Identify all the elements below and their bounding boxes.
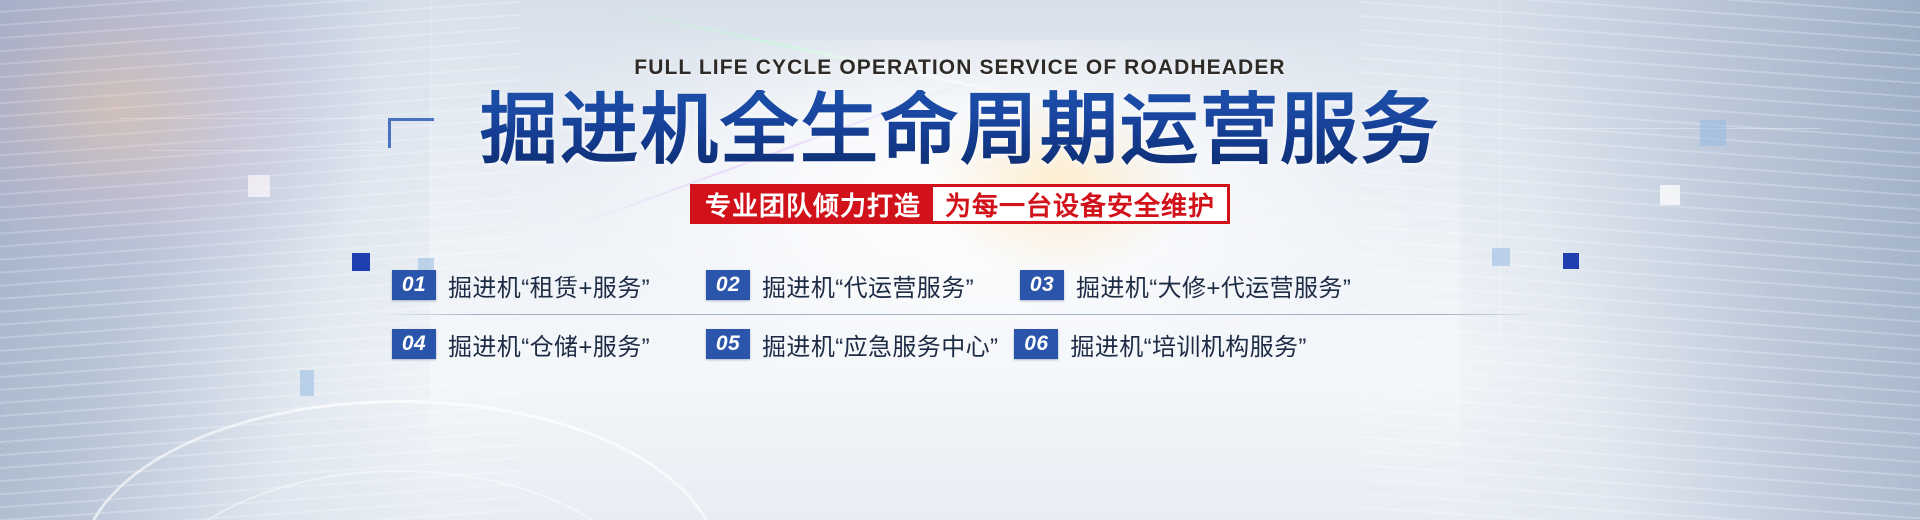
banner-headline: 掘进机全生命周期运营服务 [480, 90, 1440, 168]
service-badge-04: 04 [392, 329, 436, 359]
service-badge-06: 06 [1014, 329, 1058, 359]
service-badge-02: 02 [706, 270, 750, 300]
service-divider [380, 314, 1540, 315]
banner-content: FULL LIFE CYCLE OPERATION SERVICE OF ROA… [0, 0, 1920, 520]
service-label-03: 掘进机 [1076, 268, 1149, 303]
service-item-03[interactable]: 03 掘进机 “大修+代运营服务” [1020, 268, 1351, 303]
service-item-02[interactable]: 02 掘进机 “代运营服务” [706, 268, 974, 303]
service-quote-03: “大修+代运营服务” [1149, 268, 1351, 303]
service-row-2: 04 掘进机 “仓储+服务” 05 掘进机 “应急服务中心” 06 掘进机 “培… [380, 317, 1540, 371]
service-label-02: 掘进机 [762, 268, 835, 303]
service-quote-06: “培训机构服务” [1144, 327, 1307, 362]
tagline-outline-part: 为每一台设备安全维护 [933, 187, 1227, 221]
banner-eyebrow-english: FULL LIFE CYCLE OPERATION SERVICE OF ROA… [634, 56, 1285, 80]
service-label-04: 掘进机 [448, 327, 521, 362]
service-label-01: 掘进机 [448, 268, 521, 303]
service-item-06[interactable]: 06 掘进机 “培训机构服务” [1014, 327, 1306, 362]
banner-tagline: 专业团队倾力打造 为每一台设备安全维护 [690, 184, 1230, 224]
service-row-1: 01 掘进机 “租赁+服务” 02 掘进机 “代运营服务” 03 掘进机 “大修… [380, 258, 1540, 312]
service-quote-01: “租赁+服务” [521, 268, 650, 303]
service-label-06: 掘进机 [1070, 327, 1143, 362]
tagline-solid-part: 专业团队倾力打造 [693, 187, 933, 221]
service-badge-01: 01 [392, 270, 436, 300]
service-quote-05: “应急服务中心” [835, 327, 998, 362]
service-label-05: 掘进机 [762, 327, 835, 362]
promo-banner: FULL LIFE CYCLE OPERATION SERVICE OF ROA… [0, 0, 1920, 520]
service-item-04[interactable]: 04 掘进机 “仓储+服务” [392, 327, 650, 362]
service-quote-02: “代运营服务” [835, 268, 974, 303]
service-badge-03: 03 [1020, 270, 1064, 300]
service-badge-05: 05 [706, 329, 750, 359]
service-list: 01 掘进机 “租赁+服务” 02 掘进机 “代运营服务” 03 掘进机 “大修… [380, 258, 1540, 371]
service-item-01[interactable]: 01 掘进机 “租赁+服务” [392, 268, 650, 303]
service-item-05[interactable]: 05 掘进机 “应急服务中心” [706, 327, 998, 362]
service-quote-04: “仓储+服务” [521, 327, 650, 362]
